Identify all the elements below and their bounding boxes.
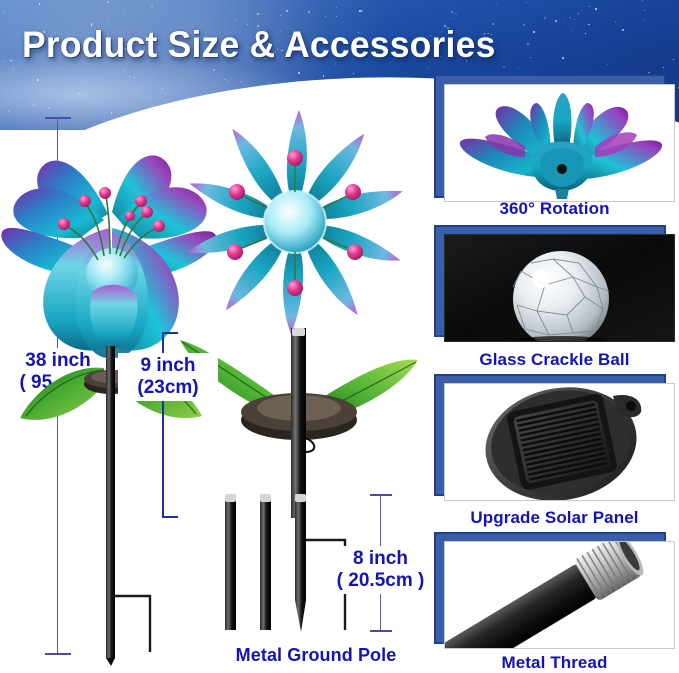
card-solar-panel[interactable] <box>444 383 675 501</box>
metal-thread-image <box>445 542 675 649</box>
dimension-ground-pole-cm: ( 20.5cm ) <box>323 570 438 592</box>
dimension-leaf-span: 9 inch (23cm) <box>118 353 218 401</box>
caption-crackle-ball: Glass Crackle Ball <box>434 350 675 370</box>
leaf-and-base-detail <box>150 320 430 520</box>
caption-metal-ground-pole: Metal Ground Pole <box>206 645 426 666</box>
caption-rotation: 360° Rotation <box>434 199 675 219</box>
card-metal-thread[interactable] <box>444 541 675 649</box>
solar-panel-image <box>445 384 675 501</box>
caption-solar-panel: Upgrade Solar Panel <box>434 508 675 528</box>
ground-pole-2 <box>260 494 271 630</box>
card-crackle-ball[interactable] <box>444 234 675 342</box>
card-rotation[interactable] <box>444 84 675 202</box>
lotus-flower-top-view-image <box>445 85 675 202</box>
glass-crackle-ball-image <box>445 235 675 342</box>
page-title: Product Size & Accessories <box>22 25 496 65</box>
ground-pole-1 <box>225 494 236 630</box>
dimension-ground-pole: 8 inch ( 20.5cm ) <box>323 546 438 594</box>
product-infographic: Product Size & Accessories 38 inch ( 95 … <box>0 0 679 673</box>
dimension-ground-pole-inch: 8 inch <box>323 548 438 570</box>
caption-metal-thread: Metal Thread <box>434 653 675 673</box>
star-flower-solar-stake <box>180 100 410 340</box>
dim-cap-bottom-8 <box>370 630 392 632</box>
dimension-leaf-span-cm: (23cm) <box>118 377 218 399</box>
dim-cap-top-8 <box>370 494 392 496</box>
dimension-leaf-span-inch: 9 inch <box>118 355 218 377</box>
